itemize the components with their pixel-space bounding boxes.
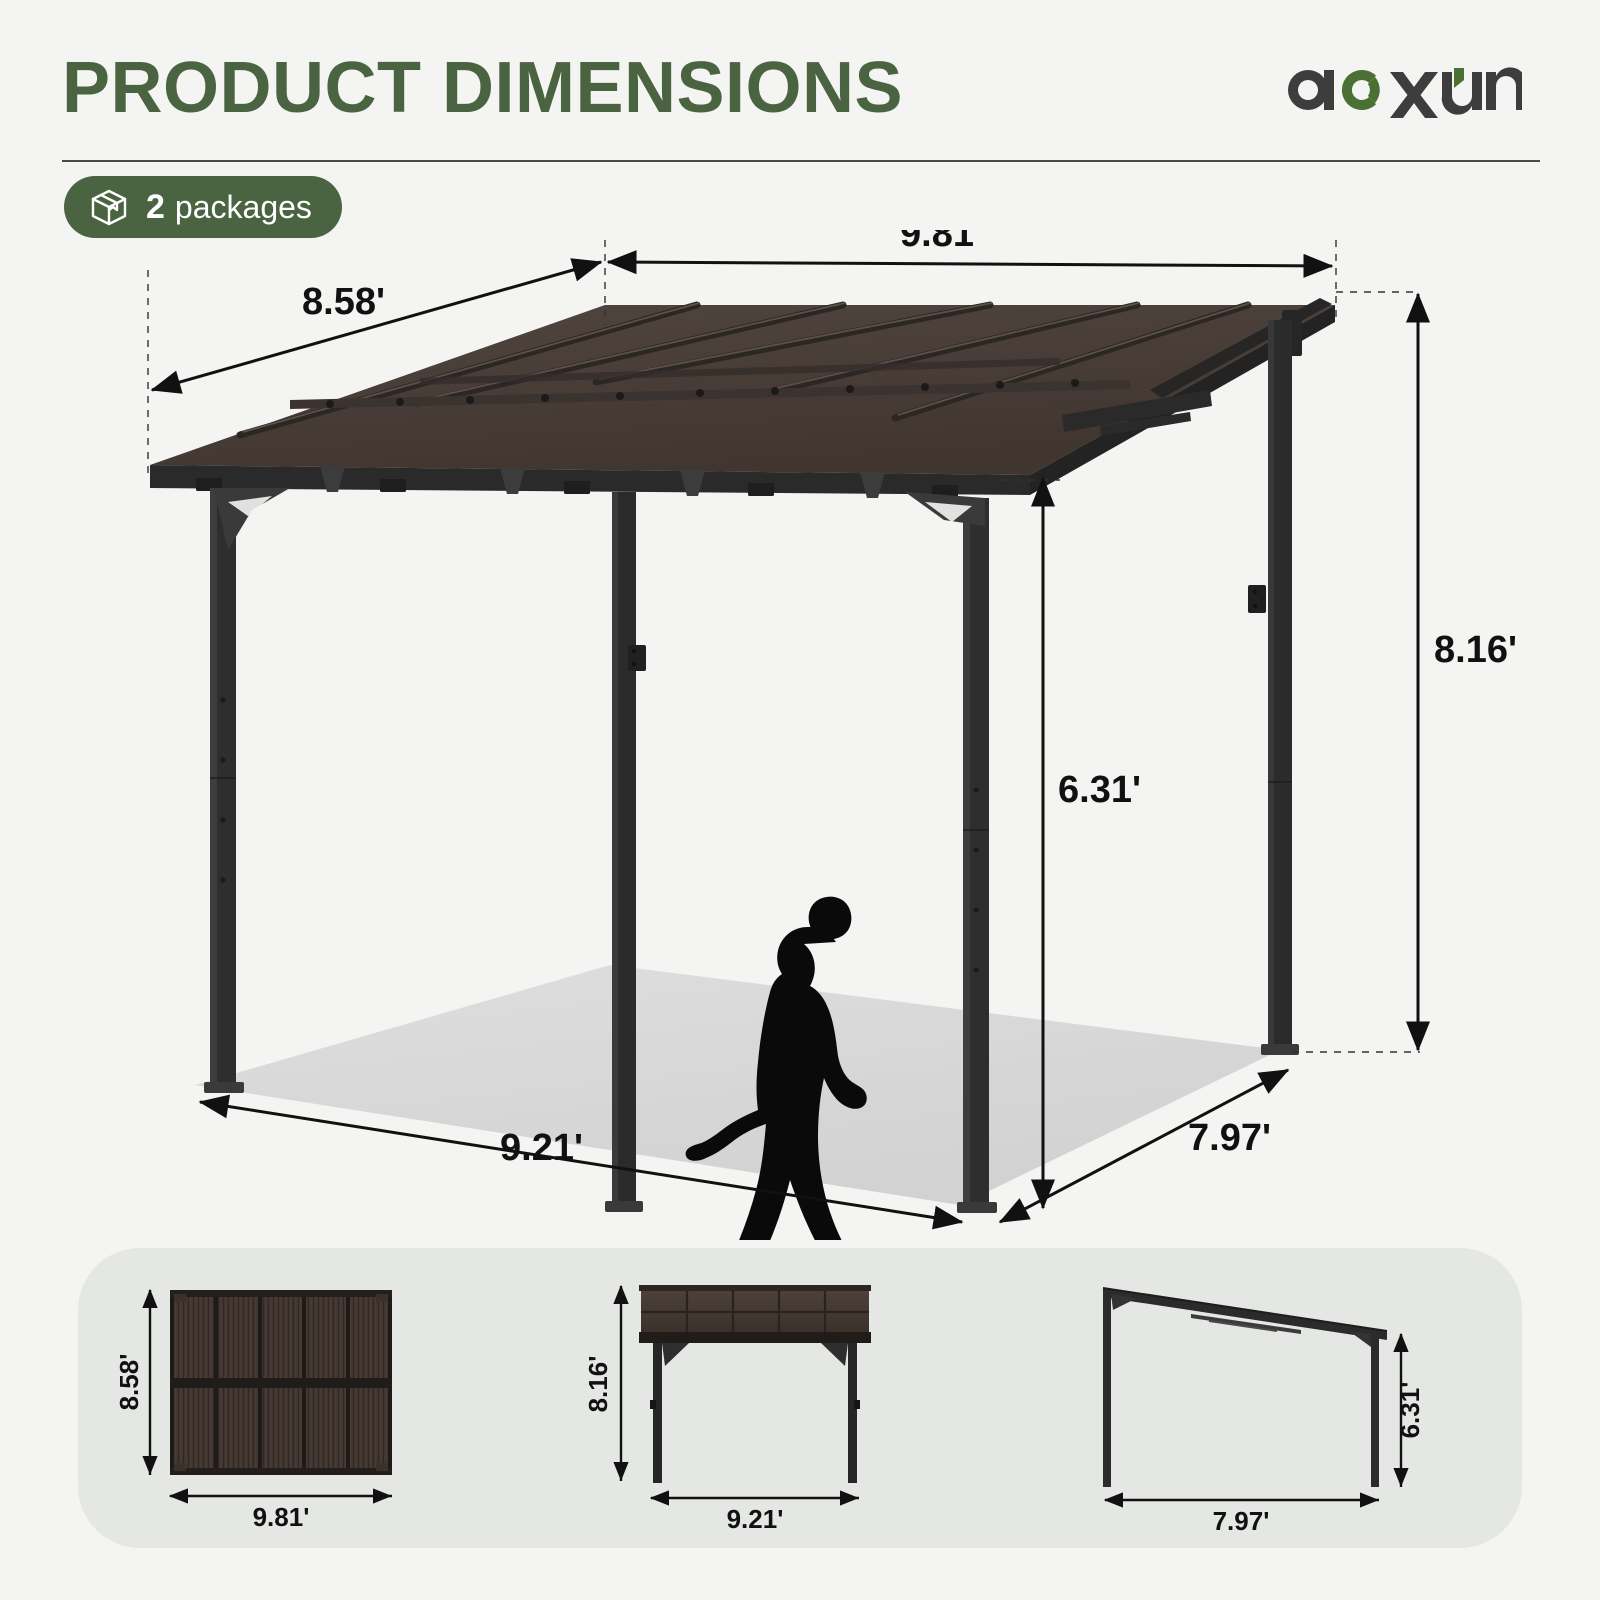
main-3d-perspective-view: 8.58' 9.81' 8.16' 6.31' [0, 230, 1600, 1240]
page-title: PRODUCT DIMENSIONS [62, 52, 903, 124]
post-rear-right [1248, 320, 1299, 1055]
front-view-width-label: 9.21' [727, 1504, 784, 1534]
ortho-view-top: 8.58' 9.81' [78, 1248, 559, 1548]
logo-letter-x [1390, 72, 1438, 118]
post-bracket [628, 645, 646, 671]
logo-letter-n [1486, 67, 1522, 110]
top-view-height-dimension: 8.58' [114, 1290, 150, 1475]
logo-letter-u [1442, 68, 1482, 115]
ortho-view-front: 8.16' 9.21' [559, 1248, 1040, 1548]
post-base-plate [1261, 1044, 1299, 1055]
front-view-structure [639, 1285, 871, 1483]
dimension-overall-height: 8.16' [1418, 294, 1517, 1050]
product-dimensions-infographic: PRODUCT DIMENSIONS [0, 0, 1600, 1600]
post-base-plate [204, 1082, 244, 1093]
package-count-badge: 2 packages [64, 176, 342, 238]
dimension-label-6-31: 6.31' [1058, 769, 1141, 811]
header-divider [62, 160, 1540, 162]
side-view-width-dimension: 7.97' [1105, 1500, 1379, 1536]
side-view-structure [1103, 1288, 1387, 1487]
package-label: packages [175, 189, 312, 226]
front-view-height-dimension: 8.16' [583, 1286, 621, 1481]
post-front-left [204, 488, 290, 1093]
top-view-roof-plan [170, 1290, 392, 1475]
front-view-height-label: 8.16' [583, 1356, 613, 1413]
top-view-width-dimension: 9.81' [170, 1496, 392, 1532]
side-view-width-label: 7.97' [1212, 1506, 1269, 1536]
front-view-width-dimension: 9.21' [651, 1498, 859, 1534]
package-count: 2 [146, 188, 165, 227]
dimension-roof-width: 9.81' [608, 230, 1332, 266]
dimension-label-9-81: 9.81' [900, 230, 983, 255]
logo-letter-a [1288, 70, 1334, 110]
top-view-height-label: 8.58' [114, 1354, 144, 1411]
side-view-height-dimension: 6.31' [1395, 1334, 1425, 1487]
front-view-brace-left [662, 1343, 689, 1366]
package-box-icon [88, 186, 130, 228]
dimension-label-8-16: 8.16' [1434, 629, 1517, 671]
dimension-label-8-58: 8.58' [302, 281, 385, 323]
dimension-label-7-97: 7.97' [1188, 1117, 1271, 1159]
post-base-plate [957, 1202, 997, 1213]
top-view-width-label: 9.81' [253, 1502, 310, 1532]
brand-logo-aoxun [1282, 56, 1522, 126]
side-view-height-label: 6.31' [1395, 1382, 1425, 1439]
front-view-brace-right [821, 1343, 848, 1366]
roof-assembly [150, 298, 1335, 498]
floor-slab [195, 965, 1280, 1205]
post-bracket [1248, 585, 1266, 613]
logo-letter-o-green [1342, 70, 1380, 110]
dimension-label-9-21: 9.21' [500, 1127, 583, 1169]
logo-accent-tick [1454, 68, 1464, 88]
ortho-view-side: 6.31' 7.97' [1041, 1248, 1522, 1548]
post-base-plate [605, 1201, 643, 1212]
ortho-views-row: 8.58' 9.81' [78, 1248, 1522, 1548]
